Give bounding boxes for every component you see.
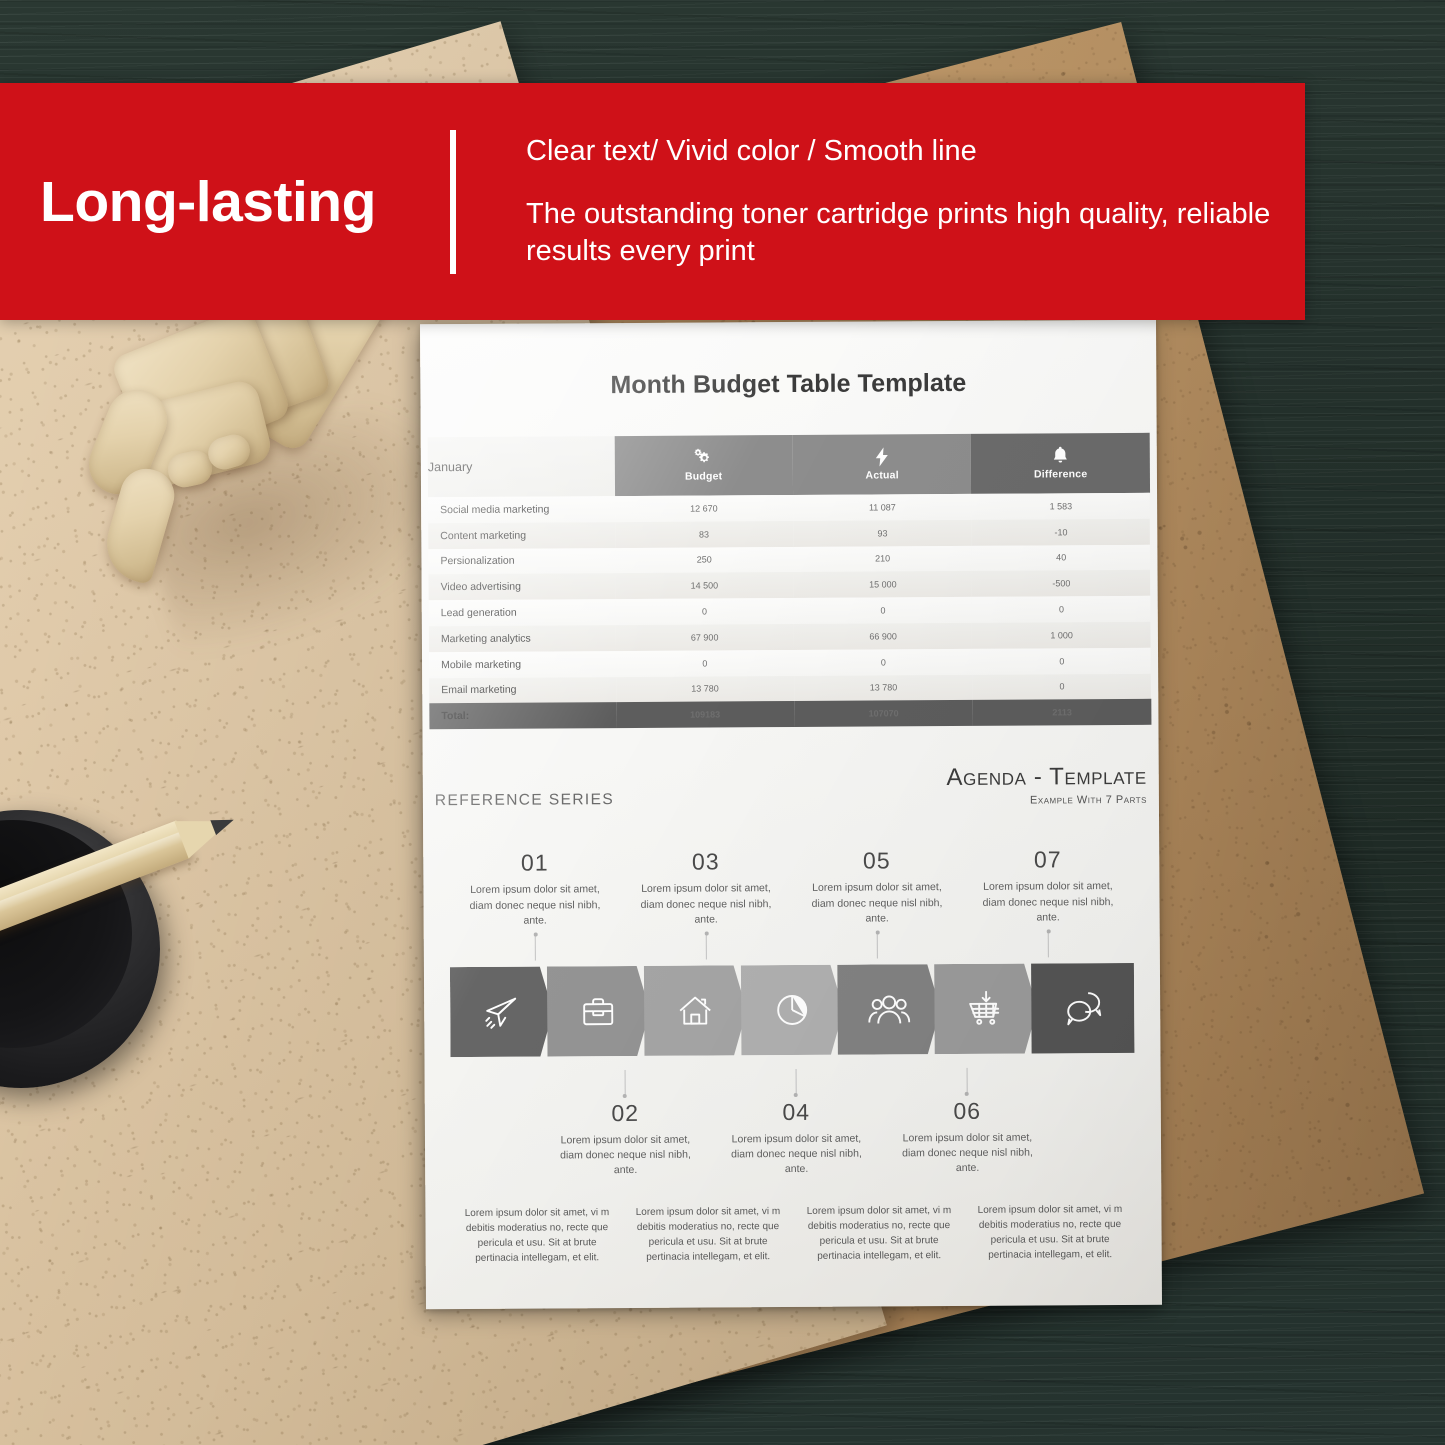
- column-header-budget: Budget: [614, 435, 793, 496]
- ribbon-cell: [740, 965, 843, 1056]
- table-cell-actual: 11 087: [793, 494, 972, 521]
- lightning-bolt-icon: [793, 447, 972, 466]
- document-title: Month Budget Table Template: [420, 368, 1156, 401]
- step-connector-up: [966, 1068, 967, 1094]
- table-cell-difference: -500: [972, 570, 1151, 597]
- bottom-paragraph: Lorem ipsum dolor sit amet, vi m debitis…: [622, 1204, 793, 1265]
- table-cell-budget: 0: [615, 598, 794, 625]
- gears-icon: [614, 448, 793, 467]
- table-cell-difference: 0: [973, 673, 1152, 700]
- agenda-steps-bottom: 02Lorem ipsum dolor sit amet, diam donec…: [437, 1067, 1150, 1180]
- step-text: Lorem ipsum dolor sit amet, diam donec n…: [540, 1133, 711, 1180]
- table-cell-budget: 13 780: [616, 676, 795, 703]
- agenda-subtitle: Example With 7 Parts: [947, 794, 1147, 807]
- step-number: 04: [711, 1098, 882, 1126]
- column-header-difference-label: Difference: [1034, 468, 1087, 480]
- month-label-cell: January: [428, 436, 615, 497]
- table-cell-actual: 66 900: [794, 623, 973, 650]
- table-cell-label: Mobile marketing: [429, 651, 616, 678]
- agenda-title: Agenda - Template: [946, 763, 1146, 792]
- table-cell-difference: 0: [972, 648, 1151, 675]
- ribbon-cell: [644, 965, 747, 1056]
- table-cell-budget: 83: [615, 521, 794, 548]
- table-cell-budget: 67 900: [615, 624, 794, 651]
- steps-bottom-spacer-end: [1052, 1067, 1135, 1176]
- step-text: Lorem ipsum dolor sit amet, diam donec n…: [620, 881, 791, 928]
- agenda-section: REFERENCE SERIES Agenda - Template Examp…: [423, 763, 1162, 1266]
- table-cell-difference: 40: [972, 544, 1151, 571]
- agenda-header: REFERENCE SERIES Agenda - Template Examp…: [435, 763, 1147, 810]
- table-cell-budget: 12 670: [615, 495, 794, 522]
- agenda-title-group: Agenda - Template Example With 7 Parts: [946, 763, 1147, 807]
- chat-bubbles-icon: [1063, 988, 1103, 1028]
- step-text: Lorem ipsum dolor sit amet, diam donec n…: [711, 1131, 882, 1178]
- table-cell-label: Marketing analytics: [429, 625, 616, 652]
- step-connector-up: [624, 1070, 625, 1096]
- bottom-paragraph: Lorem ipsum dolor sit amet, vi m debitis…: [793, 1203, 964, 1264]
- ribbon-cell: [837, 964, 940, 1055]
- step-number: 02: [540, 1100, 711, 1128]
- budget-table-body: Social media marketing12 67011 0871 583C…: [428, 493, 1151, 730]
- total-cell-actual: 107070: [794, 700, 973, 727]
- step-number: 01: [449, 849, 620, 877]
- agenda-step: 06Lorem ipsum dolor sit amet, diam donec…: [881, 1067, 1053, 1177]
- step-connector-down: [877, 933, 878, 959]
- step-text: Lorem ipsum dolor sit amet, diam donec n…: [449, 882, 620, 929]
- step-number: 05: [791, 847, 962, 875]
- promo-banner: Long-lasting Clear text/ Vivid color / S…: [0, 83, 1305, 320]
- banner-copy: Clear text/ Vivid color / Smooth line Th…: [526, 133, 1286, 269]
- banner-divider-rule: [450, 130, 456, 274]
- agenda-step: 07Lorem ipsum dolor sit amet, diam donec…: [962, 846, 1134, 958]
- table-cell-label: Content marketing: [428, 522, 615, 549]
- step-connector-down: [706, 934, 707, 960]
- table-cell-difference: 1 000: [972, 622, 1151, 649]
- wooden-mannequin-hand: [40, 300, 410, 630]
- step-text: Lorem ipsum dolor sit amet, diam donec n…: [791, 880, 962, 927]
- total-cell-difference: 2113: [973, 699, 1152, 726]
- bottom-paragraph: Lorem ipsum dolor sit amet, vi m debitis…: [451, 1205, 622, 1266]
- printed-document-page: Month Budget Table Template January: [420, 320, 1162, 1309]
- table-cell-label: Email marketing: [429, 677, 616, 704]
- agenda-step: 05Lorem ipsum dolor sit amet, diam donec…: [791, 847, 963, 959]
- banner-headline: Long-lasting: [40, 169, 440, 235]
- table-cell-budget: 14 500: [615, 572, 794, 599]
- steps-bottom-spacer: [451, 1071, 541, 1180]
- step-number: 07: [962, 846, 1133, 874]
- banner-description: The outstanding toner cartridge prints h…: [526, 196, 1286, 270]
- table-cell-label: Lead generation: [429, 599, 616, 626]
- product-banner-scene: Long-lasting Clear text/ Vivid color / S…: [0, 0, 1445, 1445]
- table-cell-budget: 0: [616, 650, 795, 677]
- agenda-bottom-paragraphs: Lorem ipsum dolor sit amet, vi m debitis…: [451, 1202, 1135, 1266]
- table-header-row: January Bud: [428, 433, 1150, 497]
- column-header-actual-label: Actual: [865, 469, 898, 481]
- agenda-step: 03Lorem ipsum dolor sit amet, diam donec…: [620, 848, 792, 960]
- step-number: 06: [882, 1097, 1053, 1125]
- table-cell-budget: 250: [615, 547, 794, 574]
- ribbon-cell: [547, 966, 650, 1057]
- table-cell-actual: 0: [794, 597, 973, 624]
- agenda-step: 01Lorem ipsum dolor sit amet, diam donec…: [449, 849, 621, 961]
- table-total-row: Total:1091831070702113: [429, 699, 1151, 729]
- step-connector-down: [1048, 931, 1049, 957]
- briefcase-icon: [578, 991, 618, 1031]
- banner-tagline: Clear text/ Vivid color / Smooth line: [526, 133, 1286, 169]
- agenda-step: 02Lorem ipsum dolor sit amet, diam donec…: [539, 1070, 711, 1180]
- column-header-actual: Actual: [793, 434, 972, 495]
- agenda-steps-top: 01Lorem ipsum dolor sit amet, diam donec…: [435, 846, 1148, 961]
- table-cell-actual: 15 000: [794, 571, 973, 598]
- agenda-icon-ribbon: [450, 963, 1135, 1057]
- reference-series-label: REFERENCE SERIES: [435, 791, 614, 810]
- home-icon: [675, 990, 715, 1030]
- table-cell-difference: 1 583: [972, 493, 1151, 520]
- ribbon-cell: [1031, 963, 1134, 1054]
- step-text: Lorem ipsum dolor sit amet, diam donec n…: [962, 879, 1133, 926]
- pie-chart-icon: [772, 990, 812, 1030]
- bell-icon: [971, 446, 1150, 465]
- ribbon-cell: [450, 966, 553, 1057]
- table-cell-difference: -10: [972, 519, 1151, 546]
- ribbon-cell: [934, 964, 1037, 1055]
- budget-table: January Bud: [428, 433, 1152, 730]
- users-icon: [868, 989, 910, 1029]
- column-header-difference: Difference: [971, 433, 1150, 494]
- table-cell-label: Video advertising: [429, 573, 616, 600]
- step-text: Lorem ipsum dolor sit amet, diam donec n…: [882, 1130, 1053, 1177]
- table-cell-actual: 210: [793, 545, 972, 572]
- agenda-step: 04Lorem ipsum dolor sit amet, diam donec…: [710, 1068, 882, 1178]
- table-cell-actual: 93: [793, 520, 972, 547]
- table-cell-difference: 0: [972, 596, 1151, 623]
- budget-table-header: January Bud: [428, 433, 1150, 497]
- table-cell-actual: 0: [794, 649, 973, 676]
- total-cell-label: Total:: [429, 702, 616, 729]
- total-cell-budget: 109183: [616, 701, 795, 728]
- table-cell-label: Persionalization: [428, 548, 615, 575]
- step-connector-down: [535, 935, 536, 961]
- column-header-budget-label: Budget: [685, 470, 722, 482]
- table-cell-actual: 13 780: [794, 674, 973, 701]
- bottom-paragraph: Lorem ipsum dolor sit amet, vi m debitis…: [964, 1202, 1135, 1263]
- shopping-cart-icon: [966, 989, 1006, 1029]
- paper-plane-icon: [481, 992, 521, 1032]
- step-connector-up: [795, 1069, 796, 1095]
- table-cell-label: Social media marketing: [428, 496, 615, 523]
- step-number: 03: [620, 848, 791, 876]
